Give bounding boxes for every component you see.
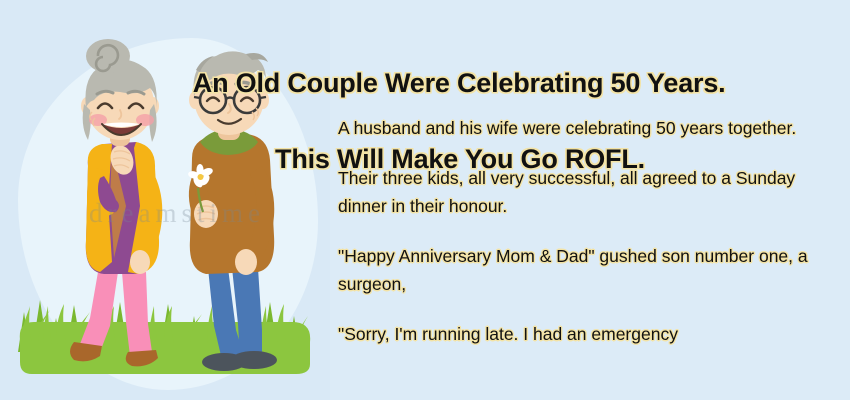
- story-paragraph: A husband and his wife were celebrating …: [338, 114, 838, 142]
- story-paragraph: "Sorry, I'm running late. I had an emerg…: [338, 320, 838, 348]
- story-paragraph: "Happy Anniversary Mom & Dad" gushed son…: [338, 242, 838, 298]
- story-paragraph: Their three kids, all very successful, a…: [338, 164, 838, 220]
- man-shoe-front: [231, 351, 277, 369]
- story-body: A husband and his wife were celebrating …: [338, 114, 838, 348]
- meme-image-card: dreamstime An Old Couple Were Celebratin…: [0, 0, 850, 400]
- headline-line-1: An Old Couple Were Celebrating 50 Years.: [193, 68, 726, 98]
